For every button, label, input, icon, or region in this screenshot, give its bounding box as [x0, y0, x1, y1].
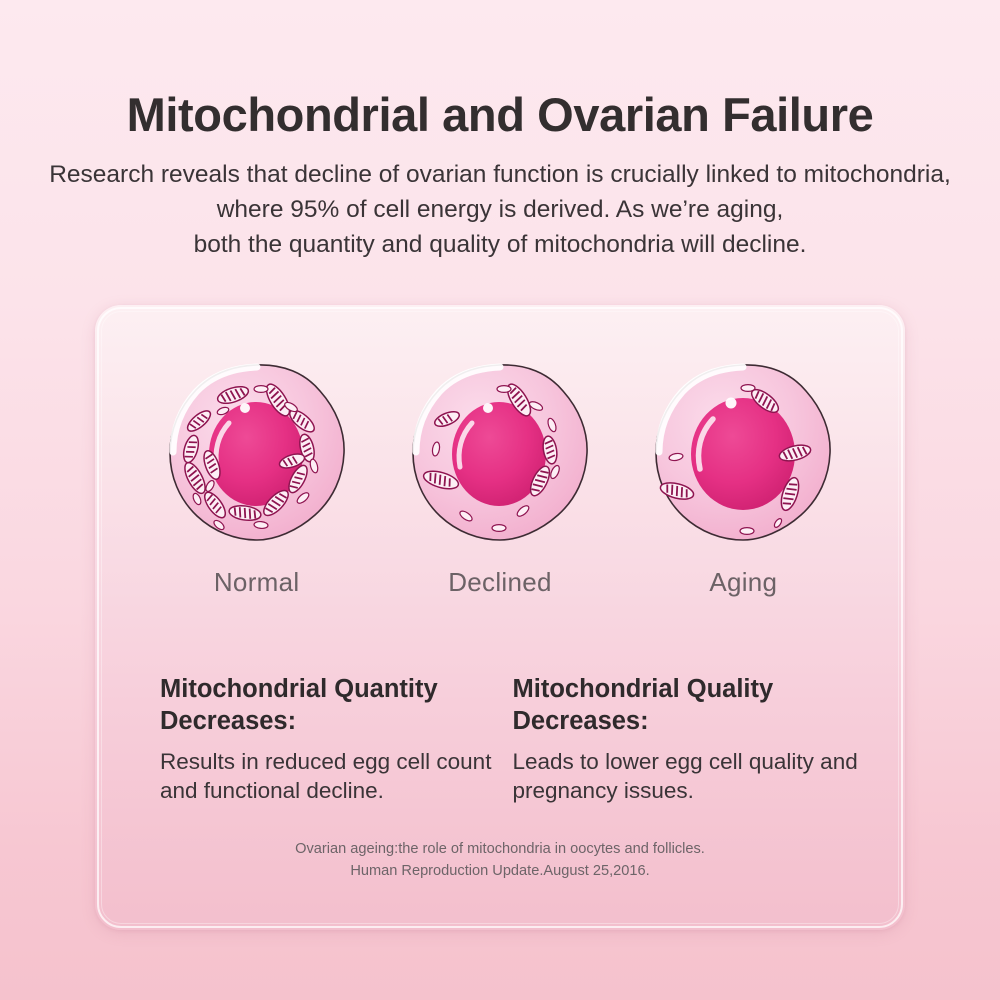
- subtitle-line-3: both the quantity and quality of mitocho…: [35, 228, 965, 263]
- cell-column-normal: Normal: [149, 353, 364, 598]
- info-blocks-row: Mitochondrial Quantity Decreases: Result…: [95, 673, 905, 806]
- cell-column-aging: Aging: [636, 353, 851, 598]
- nucleus-gloss-dot: [483, 403, 493, 413]
- nucleus-gloss-dot: [726, 398, 737, 409]
- page-header: Mitochondrial and Ovarian Failure Resear…: [0, 0, 1000, 262]
- subtitle-line-1: Research reveals that decline of ovarian…: [35, 158, 965, 193]
- citation-line-2: Human Reproduction Update.August 25,2016…: [95, 860, 905, 882]
- info-block-quality: Mitochondrial Quality Decreases: Leads t…: [513, 673, 866, 806]
- infographic-card: Normal: [95, 305, 905, 930]
- subtitle-line-2: where 95% of cell energy is derived. As …: [35, 193, 965, 228]
- cell-label-declined: Declined: [392, 567, 607, 598]
- oocyte-cell-normal-icon: [157, 353, 357, 553]
- page-subtitle: Research reveals that decline of ovarian…: [35, 142, 965, 262]
- info-heading-quality: Mitochondrial Quality Decreases:: [513, 673, 866, 738]
- info-body-quality: Leads to lower egg cell quality and preg…: [513, 738, 866, 806]
- oocyte-cell-aging-icon: [643, 353, 843, 553]
- page-title: Mitochondrial and Ovarian Failure: [0, 0, 1000, 142]
- nucleus-gloss-dot: [240, 403, 250, 413]
- info-heading-quantity: Mitochondrial Quantity Decreases:: [160, 673, 513, 738]
- cell-diagram-row: Normal: [95, 353, 905, 568]
- info-body-quantity: Results in reduced egg cell count and fu…: [160, 738, 513, 806]
- citation: Ovarian ageing:the role of mitochondria …: [95, 838, 905, 882]
- cell-label-aging: Aging: [636, 567, 851, 598]
- citation-line-1: Ovarian ageing:the role of mitochondria …: [95, 838, 905, 860]
- cell-column-declined: Declined: [392, 353, 607, 598]
- cell-label-normal: Normal: [149, 567, 364, 598]
- info-block-quantity: Mitochondrial Quantity Decreases: Result…: [160, 673, 513, 806]
- oocyte-cell-declined-icon: [400, 353, 600, 553]
